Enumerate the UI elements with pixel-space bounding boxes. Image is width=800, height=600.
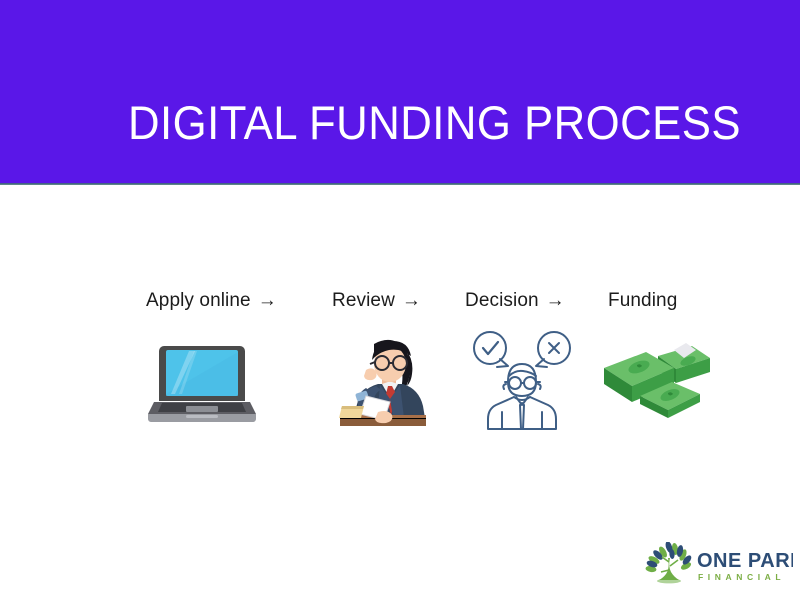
header-divider	[0, 183, 800, 185]
logo-secondary-text: FINANCIAL	[698, 572, 785, 582]
step-label-funding: Funding	[608, 290, 684, 312]
step-text-3: Funding	[608, 290, 677, 311]
arrow-icon-0: →	[258, 290, 277, 311]
page-title: DIGITAL FUNDING PROCESS	[128, 95, 638, 151]
tree-icon	[645, 542, 693, 583]
arrow-icon-1: →	[402, 290, 421, 311]
step-label-review: Review→	[332, 290, 421, 312]
company-logo: ONE PARK FINANCIAL	[645, 542, 793, 588]
person-reviewing-document-icon	[322, 330, 462, 440]
arrow-icon-2: →	[546, 290, 565, 311]
step-text-0: Apply online	[146, 290, 251, 311]
slide-canvas: DIGITAL FUNDING PROCESS Apply online→ Re…	[0, 0, 800, 600]
cash-stack-icon	[596, 334, 736, 444]
step-text-1: Review	[332, 290, 395, 311]
step-text-2: Decision	[465, 290, 539, 311]
logo-primary-text: ONE PARK	[697, 550, 793, 572]
step-label-row: Apply online→ Review→ Decision→ Funding	[130, 290, 690, 322]
step-label-decision: Decision→	[465, 290, 565, 312]
step-label-apply-online: Apply online→	[146, 290, 277, 312]
person-approve-reject-icon	[462, 326, 602, 436]
laptop-icon	[142, 336, 282, 446]
header-banner: DIGITAL FUNDING PROCESS	[0, 0, 800, 184]
